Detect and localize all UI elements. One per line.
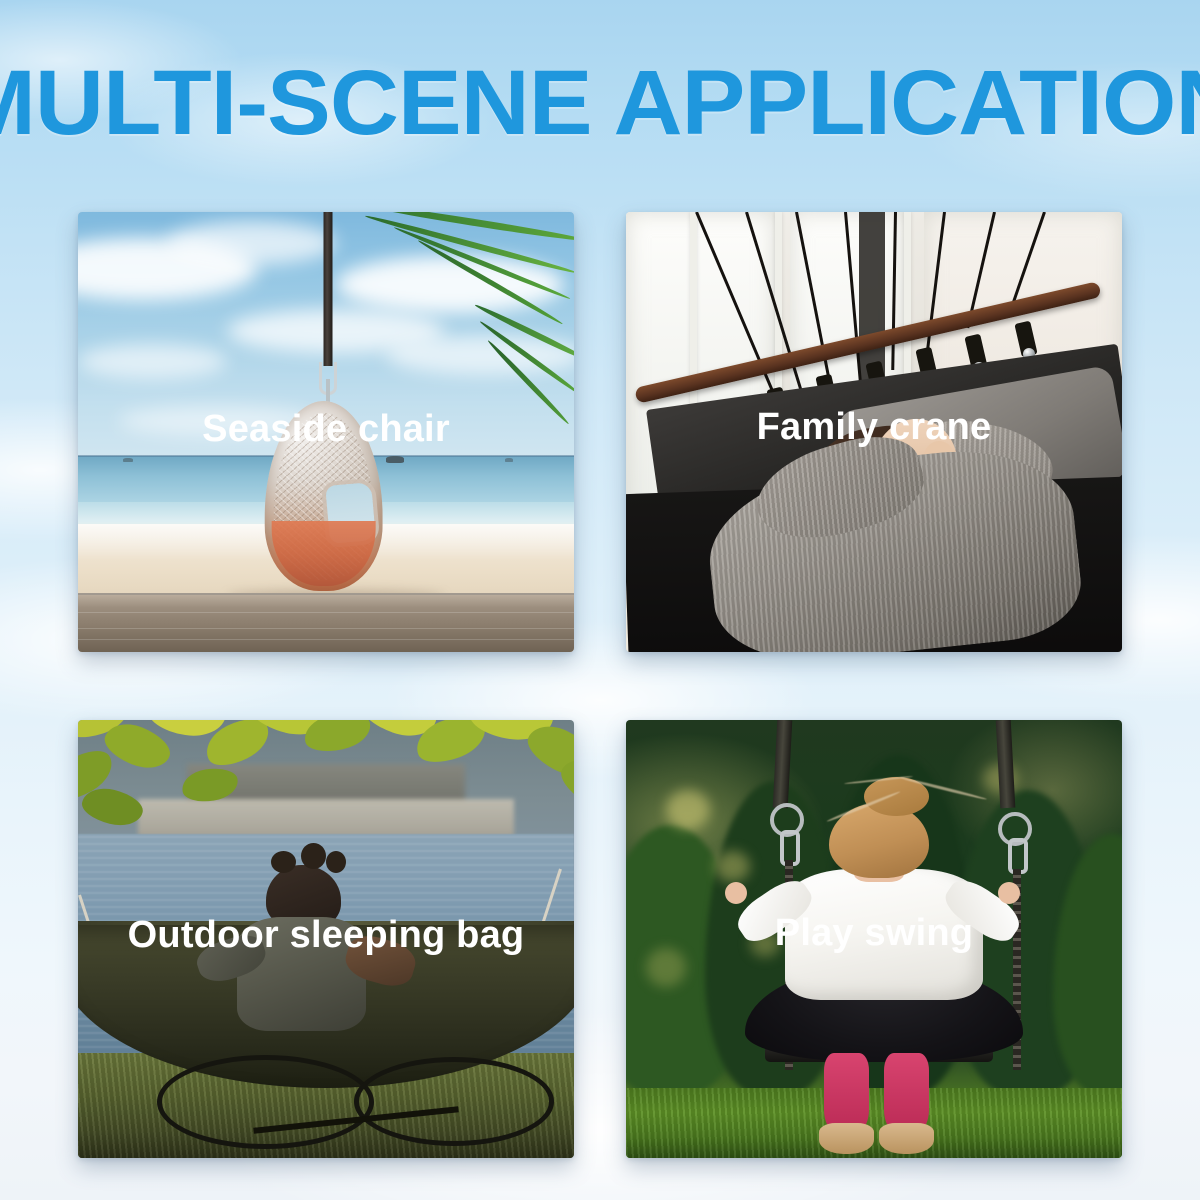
bicycle-wheel [354, 1057, 554, 1146]
chair-cushion [272, 521, 376, 586]
bicycle [157, 1062, 554, 1150]
person-hair-tuft [301, 843, 326, 869]
lawn-grass [626, 1088, 1122, 1158]
palm-frond-group-secondary [475, 291, 574, 397]
driftwood-log [78, 593, 574, 652]
cloud-shape [78, 344, 227, 379]
scene-grid: Seaside chair [78, 212, 1122, 1158]
log-grain [78, 628, 574, 629]
person-hair-tuft [326, 851, 346, 873]
tile-label-family-crane: Family crane [626, 408, 1122, 448]
hanging-strap [324, 212, 333, 366]
bokeh-highlight [715, 851, 750, 882]
girl-hand-right [998, 882, 1020, 904]
tile-play-swing[interactable]: Play swing [626, 720, 1122, 1158]
girl-shoe-left [819, 1123, 874, 1154]
girl-shoe-right [879, 1123, 934, 1154]
girl-leg-left [824, 1053, 869, 1132]
girl-leg-right [884, 1053, 929, 1132]
page-title-container: MULTI-SCENE APPLICATION [0, 48, 1200, 158]
distant-boat [123, 458, 133, 462]
tile-outdoor-sleeping-bag[interactable]: Outdoor sleeping bag [78, 720, 574, 1158]
tile-seaside-chair[interactable]: Seaside chair [78, 212, 574, 652]
log-grain [78, 612, 574, 613]
leaf [301, 720, 374, 757]
tile-label-seaside-chair: Seaside chair [78, 410, 574, 450]
girl-hand-left [725, 882, 747, 904]
cloud-shape [167, 221, 336, 265]
distant-boat [505, 458, 513, 462]
tile-family-crane[interactable]: Family crane [626, 212, 1122, 652]
tile-label-play-swing: Play swing [626, 914, 1122, 954]
autumn-leaf-canopy [78, 720, 574, 895]
tile-label-outdoor-sleeping-bag: Outdoor sleeping bag [78, 916, 574, 956]
page-title: MULTI-SCENE APPLICATION [0, 57, 1200, 149]
leaf [180, 765, 239, 804]
distant-boat [386, 456, 404, 463]
log-grain [78, 639, 574, 640]
palm-leaf [360, 212, 574, 244]
bicycle-wheel [157, 1055, 373, 1149]
poster-root: MULTI-SCENE APPLICATION [0, 0, 1200, 1200]
